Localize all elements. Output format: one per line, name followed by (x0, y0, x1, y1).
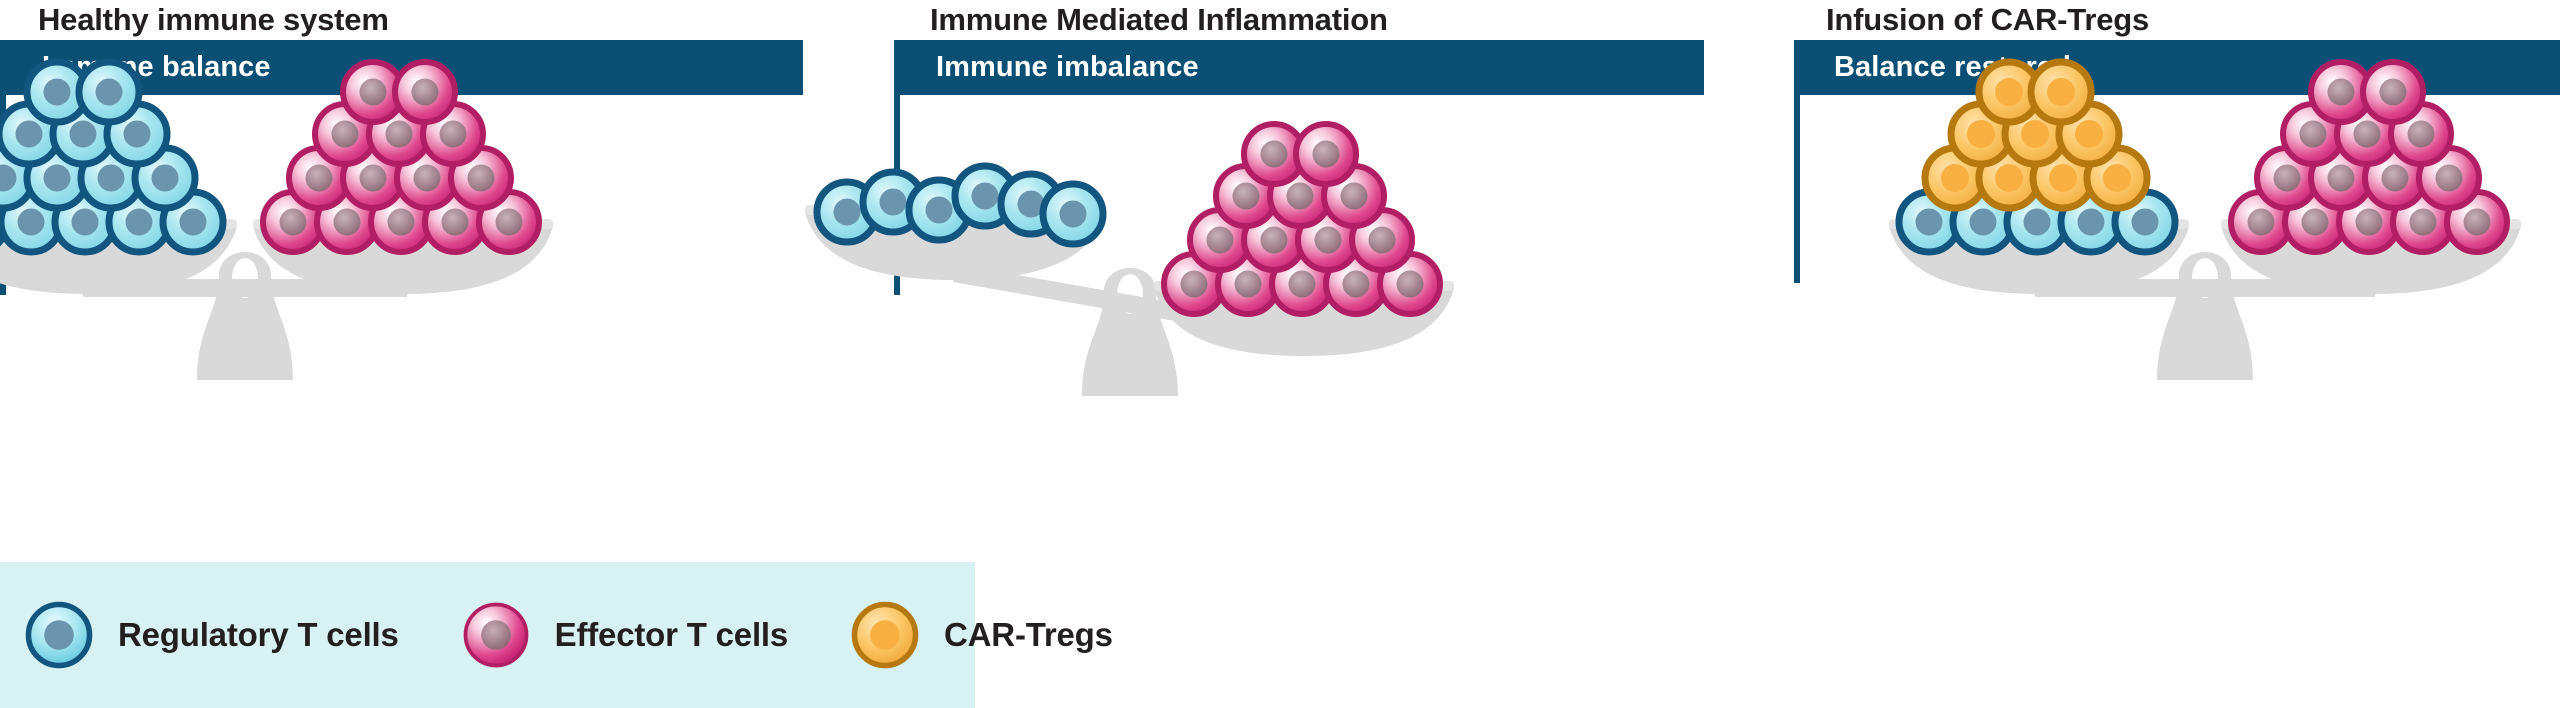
scale-inflammation (805, 124, 1454, 396)
effector-t-cell-icon (459, 598, 533, 672)
balance-scales-graphic (0, 0, 2560, 570)
legend-item-effector-t-cells: Effector T cells (459, 598, 788, 672)
legend-label-regulatory-t-cells: Regulatory T cells (118, 616, 399, 654)
legend-item-car-tregs: CAR-Tregs (848, 598, 1113, 672)
legend-label-car-tregs: CAR-Tregs (944, 616, 1113, 654)
legend-label-effector-t-cells: Effector T cells (555, 616, 788, 654)
scale-restored (1889, 62, 2521, 380)
legend-item-regulatory-t-cells: Regulatory T cells (22, 598, 399, 672)
regulatory-t-cell-icon (22, 598, 96, 672)
car-treg-cell-icon (848, 598, 922, 672)
legend-panel: Regulatory T cells (0, 562, 975, 708)
scale-healthy (0, 62, 553, 380)
